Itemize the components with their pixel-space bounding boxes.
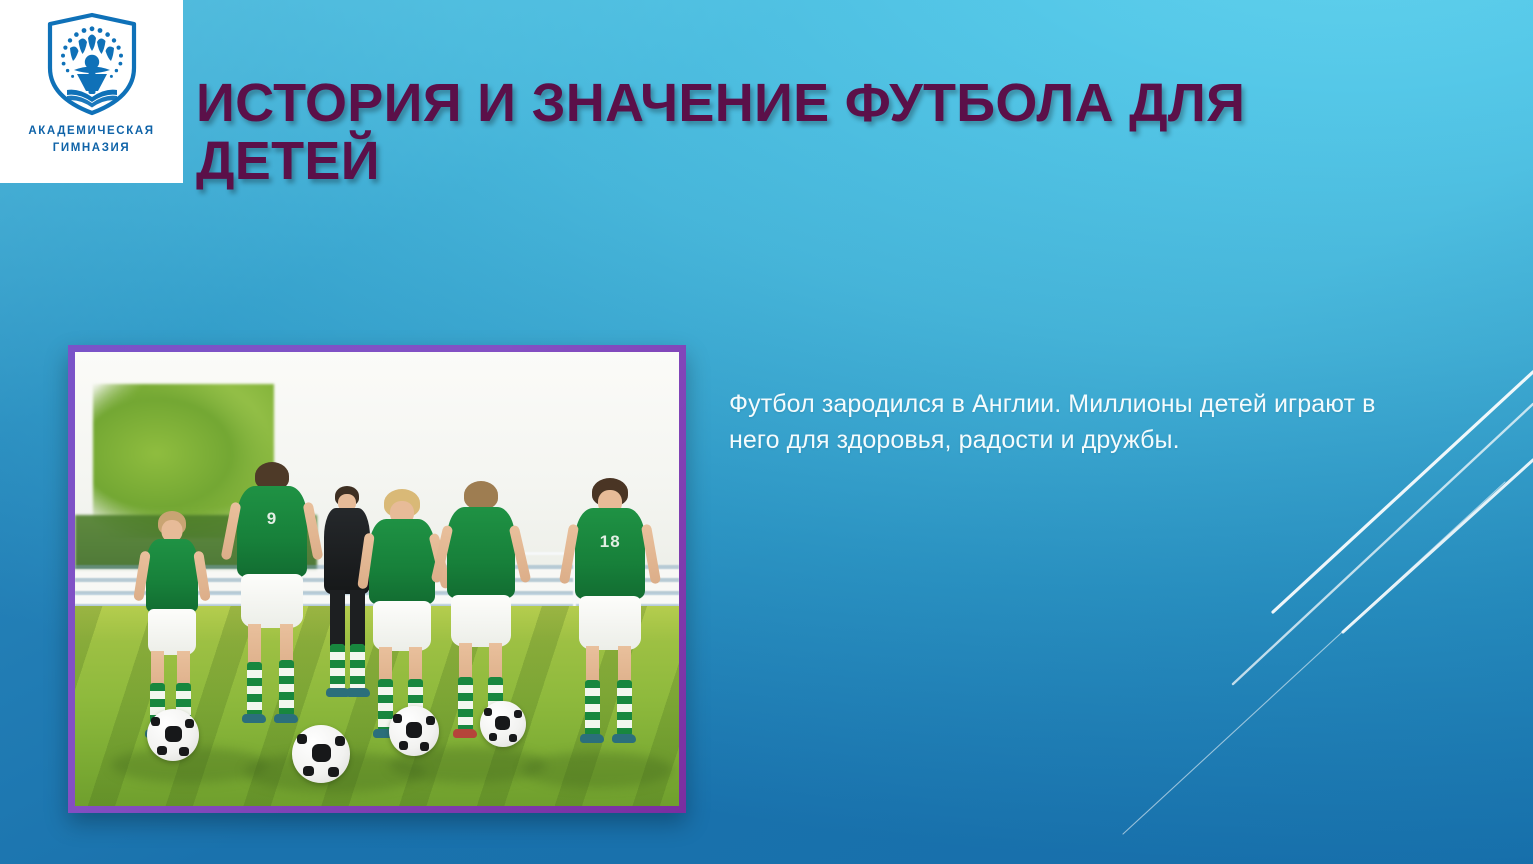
photo-player-sock bbox=[585, 680, 600, 736]
photo-player-sock bbox=[617, 680, 632, 736]
photo-player-torso: 9 bbox=[237, 486, 307, 578]
photo-player-sock bbox=[330, 644, 345, 690]
photo-player-boot bbox=[580, 734, 604, 743]
photo-player-boot bbox=[274, 714, 298, 723]
photo-player-torso bbox=[146, 539, 198, 613]
photo-jersey-number: 18 bbox=[600, 532, 621, 552]
photo-player-torso bbox=[447, 507, 515, 599]
photo-player-boot bbox=[242, 714, 266, 723]
photo-player-torso: 18 bbox=[575, 508, 645, 600]
photo-player-leg bbox=[618, 646, 631, 682]
logo-plate: АКАДЕМИЧЕСКАЯ ГИМНАЗИЯ bbox=[0, 0, 183, 183]
photo-player-leg bbox=[330, 590, 345, 646]
photo-player-leg bbox=[459, 643, 472, 679]
logo-wordmark-line1: АКАДЕМИЧЕСКАЯ bbox=[28, 125, 154, 137]
photo-player-leg bbox=[489, 643, 502, 679]
photo-player-leg bbox=[379, 647, 392, 681]
photo-player-leg bbox=[409, 647, 422, 681]
photo-player-boot bbox=[453, 729, 477, 738]
photo-player-shorts bbox=[148, 609, 196, 655]
photo-player-sock bbox=[458, 677, 473, 731]
photo-player-torso bbox=[369, 519, 435, 605]
photo-player-leg bbox=[151, 651, 164, 685]
photo-player-shorts bbox=[241, 574, 303, 628]
soccer-ball bbox=[389, 706, 439, 756]
photo-player-shorts bbox=[373, 601, 431, 651]
logo-wordmark: АКАДЕМИЧЕСКАЯ ГИМНАЗИЯ bbox=[28, 123, 154, 156]
shield-emblem-icon bbox=[44, 12, 140, 116]
photo-player-shorts bbox=[451, 595, 511, 647]
soccer-ball bbox=[480, 701, 526, 747]
photo-player-sock bbox=[247, 662, 262, 716]
photo-player-leg bbox=[177, 651, 190, 685]
photo-player-leg bbox=[280, 624, 293, 664]
soccer-photo: 9 bbox=[75, 352, 679, 806]
photo-jersey-number: 9 bbox=[267, 509, 277, 529]
photo-player-boot bbox=[612, 734, 636, 743]
logo-wordmark-line2: ГИМНАЗИЯ bbox=[28, 140, 154, 157]
photo-player-leg bbox=[248, 624, 261, 664]
photo-player-shorts bbox=[579, 596, 641, 650]
photo-player: 18 bbox=[564, 478, 656, 770]
photo-player: 9 bbox=[226, 462, 318, 752]
photo-frame: 9 bbox=[68, 345, 686, 813]
presentation-slide: АКАДЕМИЧЕСКАЯ ГИМНАЗИЯ История и значени… bbox=[0, 0, 1533, 864]
body-paragraph: Футбол зародился в Англии. Миллионы дете… bbox=[729, 387, 1419, 458]
soccer-ball bbox=[147, 709, 199, 761]
photo-player-leg bbox=[586, 646, 599, 682]
slide-title: История и значение футбола для детей bbox=[196, 74, 1316, 191]
photo-player-sock bbox=[279, 660, 294, 716]
photo-player-hair bbox=[464, 481, 498, 509]
